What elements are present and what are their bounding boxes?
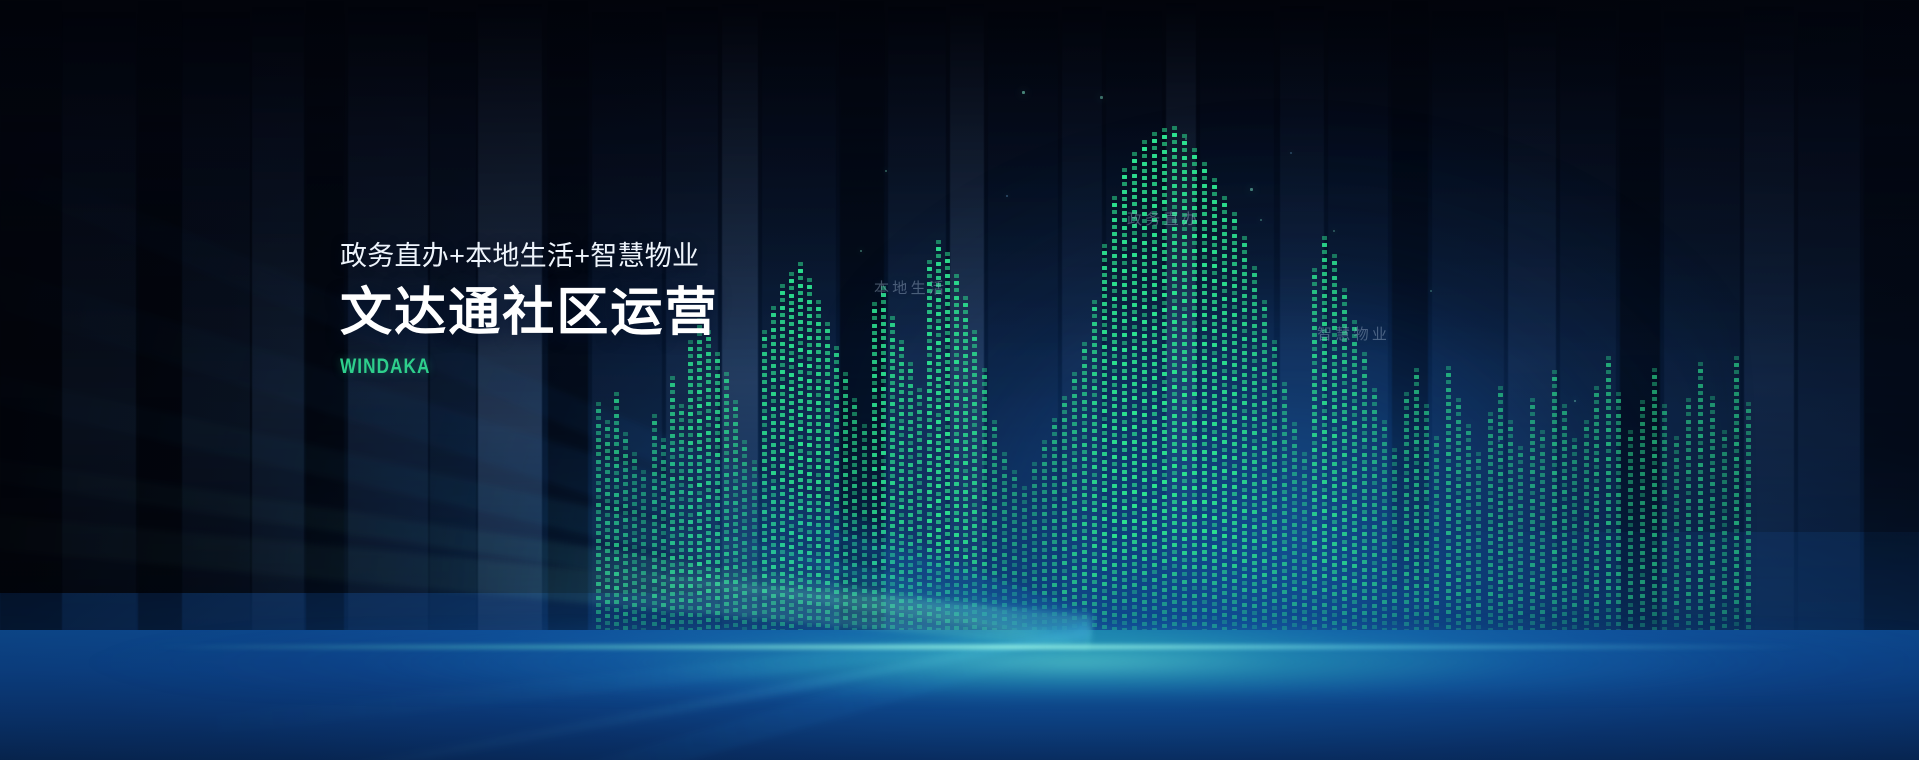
- city-tower: [1302, 452, 1307, 648]
- sparkle-particle: [1250, 188, 1253, 191]
- sparkle-particle: [1430, 290, 1432, 292]
- city-tower: [1628, 430, 1633, 648]
- city-tower: [1640, 400, 1645, 648]
- city-tower: [1552, 370, 1557, 648]
- city-tower: [1242, 236, 1247, 648]
- sparkle-particle: [1333, 230, 1335, 232]
- sparkle-particle: [1574, 400, 1576, 402]
- city-tower: [1392, 448, 1397, 648]
- city-tower: [1498, 386, 1503, 648]
- city-tower: [1562, 404, 1567, 648]
- city-tower: [1112, 196, 1117, 648]
- city-tower: [1698, 362, 1703, 648]
- city-tower: [1122, 168, 1127, 648]
- sparkle-particle: [1290, 152, 1292, 154]
- city-tower: [1530, 398, 1535, 648]
- city-label-1: 政务直办: [1127, 208, 1200, 229]
- city-tower: [1092, 300, 1097, 648]
- city-tower: [1722, 430, 1727, 648]
- city-tower: [1082, 342, 1087, 648]
- city-tower: [1584, 420, 1589, 648]
- city-tower: [1674, 436, 1679, 648]
- city-tower: [1162, 128, 1167, 648]
- banner-subtitle: 政务直办+本地生活+智慧物业: [340, 240, 719, 272]
- city-tower: [1466, 424, 1471, 648]
- sparkle-particle: [1100, 96, 1103, 99]
- city-tower: [1572, 438, 1577, 648]
- city-tower: [1232, 212, 1237, 648]
- brand-wordmark: WINDAKA: [340, 355, 650, 379]
- city-tower: [1540, 430, 1545, 648]
- city-tower: [1372, 388, 1377, 648]
- city-tower: [1382, 420, 1387, 648]
- city-tower: [1332, 254, 1337, 648]
- city-tower: [1414, 368, 1419, 648]
- sparkle-particle: [860, 250, 862, 252]
- city-tower: [1456, 398, 1461, 648]
- city-tower: [1352, 320, 1357, 648]
- city-tower: [1292, 422, 1297, 648]
- city-tower: [1202, 162, 1207, 648]
- city-tower: [1172, 126, 1177, 648]
- hero-banner: 政务直办本地生活智慧物业 政务直办+本地生活+智慧物业 文达通社区运营 WIND…: [0, 0, 1919, 760]
- city-tower: [1322, 236, 1327, 648]
- city-tower: [1212, 178, 1217, 648]
- city-tower: [1102, 244, 1107, 648]
- sparkle-particle: [885, 170, 887, 172]
- city-label-3: 智慧物业: [1317, 323, 1390, 344]
- city-tower: [1362, 352, 1367, 648]
- city-tower: [1262, 300, 1267, 648]
- city-tower: [1686, 398, 1691, 648]
- city-label-2: 本地生活: [874, 277, 947, 298]
- horizon-glow: [0, 626, 1919, 696]
- city-tower: [1446, 366, 1451, 648]
- city-tower: [1606, 356, 1611, 648]
- city-tower: [1404, 392, 1409, 648]
- city-tower: [1662, 404, 1667, 648]
- headline-block: 政务直办+本地生活+智慧物业 文达通社区运营 WINDAKA: [340, 240, 719, 379]
- horizon-core-line: [154, 645, 1804, 649]
- city-tower: [1734, 356, 1739, 648]
- city-tower: [1252, 266, 1257, 648]
- city-tower: [1434, 436, 1439, 648]
- city-tower: [1424, 404, 1429, 648]
- city-tower: [1518, 446, 1523, 648]
- sparkle-particle: [1022, 91, 1025, 94]
- city-tower: [1508, 420, 1513, 648]
- city-tower: [1282, 382, 1287, 648]
- city-tower: [1746, 402, 1751, 648]
- city-tower: [1616, 392, 1621, 648]
- city-tower: [1710, 396, 1715, 648]
- city-tower: [1476, 452, 1481, 648]
- sparkle-particle: [1498, 440, 1500, 442]
- city-tower: [1272, 340, 1277, 648]
- sparkle-particle: [1185, 138, 1187, 140]
- city-tower: [1222, 196, 1227, 648]
- banner-title: 文达通社区运营: [340, 286, 719, 341]
- sparkle-particle: [1006, 195, 1008, 197]
- sparkle-particle: [1260, 219, 1262, 221]
- city-tower: [1488, 412, 1493, 648]
- city-tower: [1594, 386, 1599, 648]
- city-tower: [1652, 368, 1657, 648]
